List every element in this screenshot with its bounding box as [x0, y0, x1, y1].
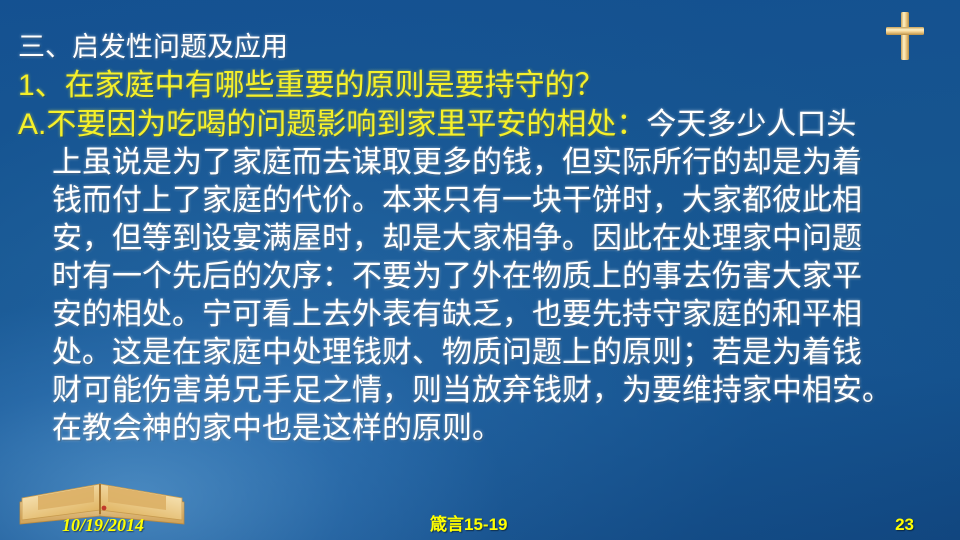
footer-page-number: 23 — [895, 514, 914, 536]
answer-prefix: A.不要因为吃喝的问题影响到家里平安的相处： — [18, 108, 646, 141]
body-line: 处。这是在家庭中处理钱财、物质问题上的原则；若是为着钱 — [0, 334, 960, 372]
body-line: 在教会神的家中也是这样的原则。 — [0, 410, 960, 448]
body-line: 上虽说是为了家庭而去谋取更多的钱，但实际所行的却是为着 — [0, 144, 960, 182]
footer-date: 10/19/2014 — [62, 514, 144, 536]
body-line: 安的相处。宁可看上去外表有缺乏，也要先持守家庭的和平相 — [0, 296, 960, 334]
answer-first-tail: 今天多少人口头 — [646, 108, 856, 141]
body-line: 财可能伤害弟兄手足之情，则当放弃钱财，为要维持家中相安。 — [0, 372, 960, 410]
slide-content: 三、启发性问题及应用 1、在家庭中有哪些重要的原则是要持守的？ A.不要因为吃喝… — [0, 28, 960, 448]
answer-first-line: A.不要因为吃喝的问题影响到家里平安的相处：今天多少人口头 — [0, 106, 960, 144]
body-line: 安，但等到设宴满屋时，却是大家相争。因此在处理家中问题 — [0, 220, 960, 258]
body-line: 时有一个先后的次序：不要为了外在物质上的事去伤害大家平 — [0, 258, 960, 296]
slide-footer: 10/19/2014 箴言15-19 23 — [0, 510, 960, 538]
question-line: 1、在家庭中有哪些重要的原则是要持守的？ — [0, 66, 960, 106]
section-heading: 三、启发性问题及应用 — [0, 28, 960, 66]
slide-canvas: 三、启发性问题及应用 1、在家庭中有哪些重要的原则是要持守的？ A.不要因为吃喝… — [0, 0, 960, 540]
body-line: 钱而付上了家庭的代价。本来只有一块干饼时，大家都彼此相 — [0, 182, 960, 220]
footer-scripture-reference: 箴言15-19 — [430, 514, 507, 536]
